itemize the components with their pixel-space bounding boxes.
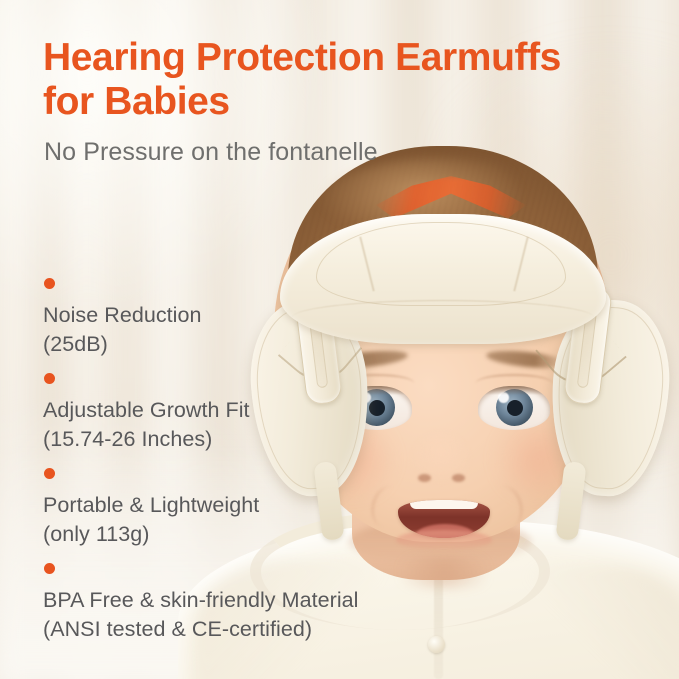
bullet-dot-icon <box>44 563 55 574</box>
text-overlay: Hearing Protection Earmuffs for Babies N… <box>0 0 679 679</box>
feature-text: Noise Reduction (25dB) <box>43 301 202 359</box>
page-title: Hearing Protection Earmuffs for Babies <box>43 36 603 123</box>
bullet-dot-icon <box>44 278 55 289</box>
feature-item-noise-reduction: Noise Reduction (25dB) <box>43 271 463 366</box>
feature-text: Adjustable Growth Fit (15.74-26 Inches) <box>43 396 250 454</box>
feature-item-adjustable-fit: Adjustable Growth Fit (15.74-26 Inches) <box>43 366 463 461</box>
product-feature-image: Hearing Protection Earmuffs for Babies N… <box>0 0 679 679</box>
page-subtitle: No Pressure on the fontanelle <box>44 138 378 167</box>
feature-text: BPA Free & skin-friendly Material (ANSI … <box>43 586 359 644</box>
bullet-dot-icon <box>44 468 55 479</box>
feature-item-portable-lightweight: Portable & Lightweight (only 113g) <box>43 461 463 556</box>
feature-item-bpa-free-material: BPA Free & skin-friendly Material (ANSI … <box>43 556 463 651</box>
feature-text: Portable & Lightweight (only 113g) <box>43 491 259 549</box>
bullet-dot-icon <box>44 373 55 384</box>
feature-list: Noise Reduction (25dB) Adjustable Growth… <box>43 271 463 651</box>
